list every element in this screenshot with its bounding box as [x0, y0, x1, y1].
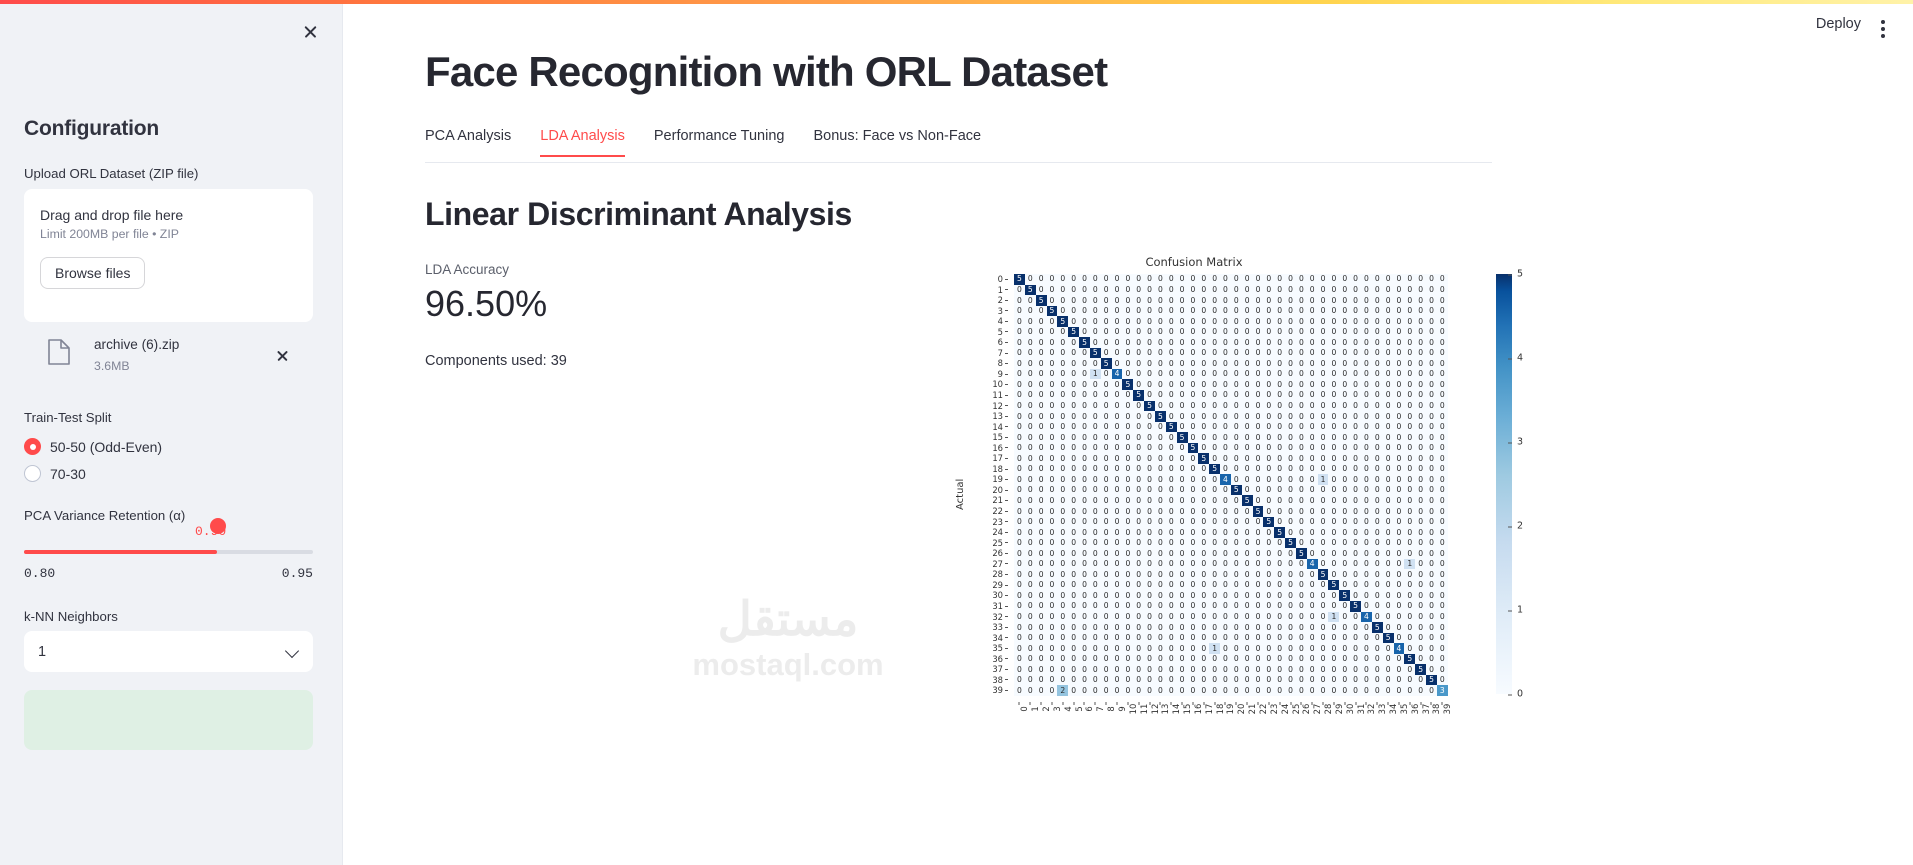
heatmap-cell: 0	[1339, 379, 1350, 390]
heatmap-cell: 0	[1144, 664, 1155, 675]
heatmap-cell: 0	[1057, 633, 1068, 644]
heatmap-cell: 0	[1437, 474, 1448, 485]
heatmap-cell: 0	[1394, 517, 1405, 528]
heatmap-cell: 0	[1198, 559, 1209, 570]
heatmap-cell: 0	[1220, 422, 1231, 433]
heatmap-cell: 0	[1296, 369, 1307, 380]
heatmap-cell: 0	[1285, 664, 1296, 675]
heatmap-cell: 0	[1112, 348, 1123, 359]
radio-option-50-50[interactable]: 50-50 (Odd-Even)	[24, 438, 162, 455]
heatmap-cell: 0	[1036, 348, 1047, 359]
heatmap-cell: 0	[1307, 643, 1318, 654]
heatmap-cell: 0	[1090, 327, 1101, 338]
heatmap-cell: 0	[1079, 622, 1090, 633]
heatmap-cell: 0	[1068, 633, 1079, 644]
heatmap-cell: 0	[1394, 590, 1405, 601]
heatmap-cell: 0	[1079, 369, 1090, 380]
heatmap-cell: 0	[1253, 675, 1264, 686]
x-tick-label: 11	[1133, 702, 1144, 742]
heatmap-cell: 0	[1014, 675, 1025, 686]
heatmap-cell: 0	[1394, 443, 1405, 454]
heatmap-cell: 5	[1350, 601, 1361, 612]
heatmap-cell: 0	[1426, 369, 1437, 380]
x-tick-label: 30	[1339, 702, 1350, 742]
heatmap-cell: 0	[1285, 358, 1296, 369]
heatmap-cell: 0	[1328, 464, 1339, 475]
heatmap-cell: 0	[1177, 274, 1188, 285]
heatmap-cell: 0	[1437, 622, 1448, 633]
x-tick-label: 29	[1328, 702, 1339, 742]
heatmap-cell: 0	[1263, 390, 1274, 401]
heatmap-cell: 0	[1339, 548, 1350, 559]
heatmap-cell: 0	[1101, 274, 1112, 285]
heatmap-cell: 0	[1209, 306, 1220, 317]
heatmap-cell: 0	[1209, 274, 1220, 285]
heatmap-cell: 0	[1415, 643, 1426, 654]
heatmap-cell: 0	[1361, 601, 1372, 612]
heatmap-cell: 0	[1426, 569, 1437, 580]
heatmap-cell: 0	[1025, 432, 1036, 443]
heatmap-cell: 0	[1122, 337, 1133, 348]
heatmap-cell: 0	[1155, 422, 1166, 433]
heatmap-cell: 0	[1285, 601, 1296, 612]
heatmap-cell: 0	[1036, 422, 1047, 433]
colorbar-tick-label: 0	[1513, 689, 1523, 700]
y-tick-label: 23	[968, 517, 1008, 528]
heatmap-cell: 0	[1188, 358, 1199, 369]
file-dropzone[interactable]: Drag and drop file here Limit 200MB per …	[24, 189, 313, 322]
heatmap-cell: 0	[1057, 274, 1068, 285]
heatmap-cell: 0	[1112, 422, 1123, 433]
heatmap-cell: 0	[1220, 569, 1231, 580]
heatmap-cell: 0	[1394, 506, 1405, 517]
heatmap-cell: 0	[1361, 559, 1372, 570]
heatmap-cell: 0	[1122, 358, 1133, 369]
heatmap-cell: 0	[1047, 548, 1058, 559]
heatmap-cell: 0	[1231, 443, 1242, 454]
heatmap-cell: 0	[1036, 274, 1047, 285]
heatmap-cell: 0	[1253, 411, 1264, 422]
heatmap-cell: 0	[1350, 443, 1361, 454]
heatmap-cell: 0	[1274, 474, 1285, 485]
heatmap-cell: 0	[1220, 664, 1231, 675]
heatmap-cell: 0	[1177, 348, 1188, 359]
heatmap-cell: 0	[1144, 675, 1155, 686]
heatmap-cell: 0	[1274, 580, 1285, 591]
heatmap-cell: 1	[1209, 643, 1220, 654]
heatmap-cell: 0	[1426, 685, 1437, 696]
heatmap-cell: 0	[1285, 474, 1296, 485]
heatmap-cell: 0	[1188, 580, 1199, 591]
y-tick-label: 34	[968, 633, 1008, 644]
heatmap-cell: 0	[1220, 411, 1231, 422]
heatmap-cell: 0	[1177, 369, 1188, 380]
heatmap-cell: 0	[1285, 643, 1296, 654]
radio-option-70-30[interactable]: 70-30	[24, 465, 86, 482]
heatmap-cell: 0	[1394, 358, 1405, 369]
heatmap-cell: 0	[1155, 538, 1166, 549]
heatmap-cell: 0	[1068, 612, 1079, 623]
heatmap-cell: 0	[1112, 654, 1123, 665]
deploy-button[interactable]: Deploy	[1816, 16, 1861, 32]
heatmap-cell: 0	[1188, 306, 1199, 317]
heatmap-cell: 0	[1426, 432, 1437, 443]
heatmap-cell: 0	[1350, 485, 1361, 496]
heatmap-cell: 0	[1209, 590, 1220, 601]
heatmap-cell: 0	[1166, 379, 1177, 390]
heatmap-cell: 0	[1090, 506, 1101, 517]
heatmap-cell: 0	[1274, 601, 1285, 612]
heatmap-cell: 0	[1231, 517, 1242, 528]
tab-pca-analysis[interactable]: PCA Analysis	[425, 128, 511, 157]
heatmap-cell: 0	[1296, 685, 1307, 696]
heatmap-cell: 0	[1296, 664, 1307, 675]
heatmap-cell: 0	[1025, 443, 1036, 454]
heatmap-cell: 0	[1437, 348, 1448, 359]
heatmap-cell: 0	[1209, 506, 1220, 517]
y-tick-label: 27	[968, 559, 1008, 570]
heatmap-cell: 0	[1285, 506, 1296, 517]
heatmap-cell: 0	[1188, 285, 1199, 296]
success-message-box	[24, 690, 313, 750]
heatmap-cell: 0	[1318, 612, 1329, 623]
heatmap-cell: 0	[1025, 643, 1036, 654]
heatmap-cell: 0	[1253, 622, 1264, 633]
heatmap-cell: 0	[1122, 401, 1133, 412]
heatmap-cell: 4	[1394, 643, 1405, 654]
heatmap-cell: 0	[1361, 474, 1372, 485]
heatmap-cell: 0	[1198, 432, 1209, 443]
heatmap-cell: 0	[1372, 432, 1383, 443]
heatmap-cell: 0	[1328, 590, 1339, 601]
heatmap-cell: 0	[1242, 527, 1253, 538]
heatmap-cell: 0	[1177, 601, 1188, 612]
heatmap-cell: 0	[1285, 569, 1296, 580]
heatmap-cell: 0	[1047, 285, 1058, 296]
heatmap-cell: 0	[1404, 612, 1415, 623]
heatmap-cell: 0	[1177, 622, 1188, 633]
knn-neighbors-select[interactable]: 1	[24, 631, 313, 672]
heatmap-cell: 0	[1263, 559, 1274, 570]
dropzone-limit: Limit 200MB per file • ZIP	[40, 227, 297, 241]
heatmap-cell: 0	[1220, 464, 1231, 475]
heatmap-cell: 0	[1242, 569, 1253, 580]
heatmap-cell: 0	[1296, 643, 1307, 654]
tab-lda-analysis[interactable]: LDA Analysis	[540, 128, 625, 157]
section-title: Linear Discriminant Analysis	[425, 196, 852, 233]
heatmap-cell: 0	[1014, 506, 1025, 517]
heatmap-cell: 0	[1188, 453, 1199, 464]
heatmap-cell: 0	[1383, 316, 1394, 327]
heatmap-cell: 0	[1437, 590, 1448, 601]
heatmap-cell: 0	[1253, 327, 1264, 338]
heatmap-cell: 0	[1328, 401, 1339, 412]
heatmap-cell: 0	[1036, 654, 1047, 665]
heatmap-cell: 0	[1144, 358, 1155, 369]
heatmap-cell: 0	[1318, 654, 1329, 665]
heatmap-cell: 0	[1220, 654, 1231, 665]
heatmap-cell: 0	[1437, 453, 1448, 464]
heatmap-cell: 0	[1318, 643, 1329, 654]
heatmap-cell: 0	[1101, 601, 1112, 612]
heatmap-cell: 0	[1036, 337, 1047, 348]
heatmap-cell: 0	[1057, 337, 1068, 348]
page-title: Face Recognition with ORL Dataset	[425, 48, 1107, 96]
heatmap-cell: 0	[1372, 295, 1383, 306]
heatmap-cell: 0	[1079, 506, 1090, 517]
heatmap-cell: 0	[1394, 633, 1405, 644]
heatmap-cell: 0	[1090, 432, 1101, 443]
heatmap-cell: 0	[1188, 432, 1199, 443]
heatmap-cell: 0	[1122, 464, 1133, 475]
heatmap-cell: 0	[1394, 295, 1405, 306]
heatmap-cell: 0	[1404, 495, 1415, 506]
heatmap-cell: 0	[1198, 422, 1209, 433]
heatmap-cell: 0	[1068, 559, 1079, 570]
heatmap-cell: 0	[1253, 348, 1264, 359]
heatmap-cell: 0	[1090, 464, 1101, 475]
knn-neighbors-label: k-NN Neighbors	[24, 607, 118, 627]
heatmap-cell: 0	[1112, 295, 1123, 306]
heatmap-cell: 0	[1101, 369, 1112, 380]
heatmap-cell: 0	[1112, 580, 1123, 591]
heatmap-cell: 0	[1307, 664, 1318, 675]
heatmap-cell: 0	[1231, 654, 1242, 665]
tab-bonus-face-vs-non-face[interactable]: Bonus: Face vs Non-Face	[813, 128, 981, 157]
heatmap-cell: 0	[1404, 369, 1415, 380]
heatmap-cell: 0	[1101, 464, 1112, 475]
heatmap-cell: 0	[1350, 643, 1361, 654]
heatmap-cell: 0	[1220, 485, 1231, 496]
heatmap-cell: 0	[1220, 590, 1231, 601]
heatmap-cell: 0	[1209, 580, 1220, 591]
heatmap-cell: 0	[1404, 306, 1415, 317]
heatmap-cell: 0	[1253, 285, 1264, 296]
heatmap-cell: 0	[1112, 379, 1123, 390]
heatmap-cell: 0	[1253, 654, 1264, 665]
heatmap-cell: 0	[1155, 295, 1166, 306]
heatmap-cell: 0	[1426, 517, 1437, 528]
heatmap-cell: 0	[1122, 633, 1133, 644]
heatmap-cell: 0	[1253, 432, 1264, 443]
heatmap-cell: 0	[1025, 527, 1036, 538]
heatmap-cell: 0	[1188, 654, 1199, 665]
heatmap-cell: 0	[1155, 390, 1166, 401]
heatmap-cell: 0	[1209, 517, 1220, 528]
heatmap-cell: 0	[1079, 306, 1090, 317]
heatmap-cell: 0	[1350, 411, 1361, 422]
heatmap-cell: 0	[1318, 316, 1329, 327]
heatmap-cell: 5	[1057, 316, 1068, 327]
heatmap-cell: 0	[1274, 422, 1285, 433]
heatmap-cell: 0	[1122, 443, 1133, 454]
heatmap-cell: 0	[1014, 559, 1025, 570]
heatmap-cell: 0	[1231, 422, 1242, 433]
heatmap-cell: 0	[1394, 612, 1405, 623]
heatmap-cell: 0	[1231, 548, 1242, 559]
heatmap-cell: 0	[1242, 633, 1253, 644]
heatmap-cell: 0	[1350, 422, 1361, 433]
heatmap-cell: 0	[1285, 411, 1296, 422]
sidebar-close-button[interactable]	[295, 16, 325, 46]
heatmap-cell: 0	[1307, 685, 1318, 696]
y-tick-label: 29	[968, 580, 1008, 591]
heatmap-cell: 0	[1394, 285, 1405, 296]
heatmap-cell: 0	[1198, 580, 1209, 591]
heatmap-cell: 0	[1318, 590, 1329, 601]
x-tick-label: 14	[1166, 702, 1177, 742]
colorbar-tick-label: 3	[1513, 437, 1523, 448]
heatmap-cell: 0	[1144, 622, 1155, 633]
heatmap-cell: 0	[1220, 643, 1231, 654]
heatmap-cell: 0	[1426, 601, 1437, 612]
heatmap-cell: 0	[1394, 274, 1405, 285]
heatmap-cell: 0	[1231, 495, 1242, 506]
heatmap-cell: 0	[1122, 485, 1133, 496]
heatmap-cell: 0	[1112, 590, 1123, 601]
heatmap-cell: 0	[1133, 538, 1144, 549]
heatmap-cell: 0	[1079, 327, 1090, 338]
heatmap-cell: 0	[1112, 285, 1123, 296]
heatmap-cell: 0	[1263, 643, 1274, 654]
heatmap-cell: 0	[1079, 379, 1090, 390]
heatmap-cell: 0	[1318, 432, 1329, 443]
heatmap-cell: 0	[1339, 401, 1350, 412]
heatmap-cell: 0	[1242, 432, 1253, 443]
heatmap-cell: 0	[1296, 495, 1307, 506]
heatmap-cell: 0	[1339, 633, 1350, 644]
x-tick-label: 25	[1285, 702, 1296, 742]
x-tick-label: 15	[1177, 702, 1188, 742]
heatmap-cell: 0	[1296, 316, 1307, 327]
heatmap-cell: 0	[1112, 453, 1123, 464]
remove-file-button[interactable]	[273, 346, 291, 364]
heatmap-cell: 0	[1426, 495, 1437, 506]
configuration-heading: Configuration	[24, 117, 159, 141]
heatmap-cell: 0	[1415, 464, 1426, 475]
heatmap-cell: 0	[1296, 295, 1307, 306]
heatmap-cell: 0	[1285, 622, 1296, 633]
heatmap-cell: 0	[1188, 612, 1199, 623]
heatmap-cell: 0	[1263, 316, 1274, 327]
heatmap-cell: 0	[1394, 348, 1405, 359]
heatmap-cell: 0	[1339, 432, 1350, 443]
heatmap-cell: 0	[1415, 569, 1426, 580]
pca-slider-track[interactable]	[24, 550, 313, 554]
heatmap-cell: 0	[1361, 358, 1372, 369]
heatmap-cell: 0	[1350, 517, 1361, 528]
heatmap-cell: 0	[1328, 485, 1339, 496]
kebab-menu-icon[interactable]	[1873, 16, 1893, 38]
heatmap-cell: 0	[1079, 295, 1090, 306]
heatmap-cell: 0	[1328, 358, 1339, 369]
heatmap-cell: 0	[1122, 327, 1133, 338]
heatmap-cell: 0	[1025, 348, 1036, 359]
heatmap-cell: 0	[1101, 327, 1112, 338]
heatmap-cell: 0	[1350, 654, 1361, 665]
heatmap-cell: 0	[1133, 316, 1144, 327]
heatmap-cell: 0	[1404, 432, 1415, 443]
heatmap-cell: 0	[1296, 612, 1307, 623]
heatmap-cell: 0	[1242, 538, 1253, 549]
tab-performance-tuning[interactable]: Performance Tuning	[654, 128, 785, 157]
heatmap-cell: 0	[1144, 464, 1155, 475]
heatmap-cell: 0	[1361, 485, 1372, 496]
heatmap-cell: 0	[1068, 548, 1079, 559]
heatmap-cell: 0	[1079, 664, 1090, 675]
heatmap-cell: 0	[1133, 633, 1144, 644]
heatmap-cell: 0	[1220, 538, 1231, 549]
heatmap-cell: 0	[1014, 612, 1025, 623]
heatmap-cell: 0	[1394, 485, 1405, 496]
heatmap-cell: 0	[1155, 664, 1166, 675]
heatmap-cell: 0	[1361, 432, 1372, 443]
heatmap-cell: 0	[1101, 654, 1112, 665]
x-tick-label: 39	[1437, 702, 1448, 742]
heatmap-cell: 0	[1296, 411, 1307, 422]
heatmap-cell: 0	[1090, 675, 1101, 686]
heatmap-cell: 0	[1274, 327, 1285, 338]
heatmap-cell: 0	[1209, 559, 1220, 570]
heatmap-cell: 0	[1242, 643, 1253, 654]
heatmap-cell: 0	[1242, 664, 1253, 675]
heatmap-cell: 0	[1133, 664, 1144, 675]
heatmap-cell: 0	[1155, 622, 1166, 633]
heatmap-cell: 5	[1253, 506, 1264, 517]
heatmap-cell: 0	[1166, 411, 1177, 422]
pca-slider-thumb[interactable]	[210, 518, 226, 534]
heatmap-cell: 0	[1166, 485, 1177, 496]
heatmap-cell: 0	[1166, 664, 1177, 675]
heatmap-cell: 0	[1231, 590, 1242, 601]
heatmap-cell: 0	[1144, 506, 1155, 517]
heatmap-cell: 5	[1296, 548, 1307, 559]
heatmap-cell: 0	[1350, 306, 1361, 317]
heatmap-cell: 0	[1057, 443, 1068, 454]
chart-colorbar: 012345	[1496, 274, 1512, 694]
heatmap-cell: 0	[1220, 348, 1231, 359]
heatmap-cell: 0	[1220, 285, 1231, 296]
heatmap-cell: 0	[1198, 685, 1209, 696]
browse-files-button[interactable]: Browse files	[40, 257, 145, 289]
sidebar: Configuration Upload ORL Dataset (ZIP fi…	[0, 0, 343, 865]
heatmap-cell: 0	[1025, 401, 1036, 412]
heatmap-cell: 0	[1372, 590, 1383, 601]
heatmap-cell: 0	[1437, 517, 1448, 528]
heatmap-cell: 0	[1328, 495, 1339, 506]
heatmap-cell: 0	[1198, 654, 1209, 665]
heatmap-cell: 0	[1047, 485, 1058, 496]
heatmap-cell: 0	[1361, 443, 1372, 454]
heatmap-cell: 0	[1144, 432, 1155, 443]
heatmap-cell: 0	[1112, 633, 1123, 644]
heatmap-cell: 0	[1047, 675, 1058, 686]
heatmap-cell: 0	[1372, 664, 1383, 675]
x-tick-label: 1	[1025, 702, 1036, 742]
heatmap-cell: 0	[1122, 685, 1133, 696]
heatmap-cell: 0	[1090, 527, 1101, 538]
heatmap-cell: 0	[1296, 517, 1307, 528]
main-content: Deploy Face Recognition with ORL Dataset…	[343, 0, 1913, 865]
heatmap-cell: 0	[1361, 633, 1372, 644]
heatmap-cell: 0	[1101, 517, 1112, 528]
heatmap-cell: 0	[1112, 569, 1123, 580]
heatmap-cell: 0	[1144, 285, 1155, 296]
heatmap-cell: 0	[1144, 348, 1155, 359]
heatmap-cell: 0	[1047, 633, 1058, 644]
heatmap-cell: 0	[1253, 379, 1264, 390]
heatmap-cell: 0	[1036, 622, 1047, 633]
